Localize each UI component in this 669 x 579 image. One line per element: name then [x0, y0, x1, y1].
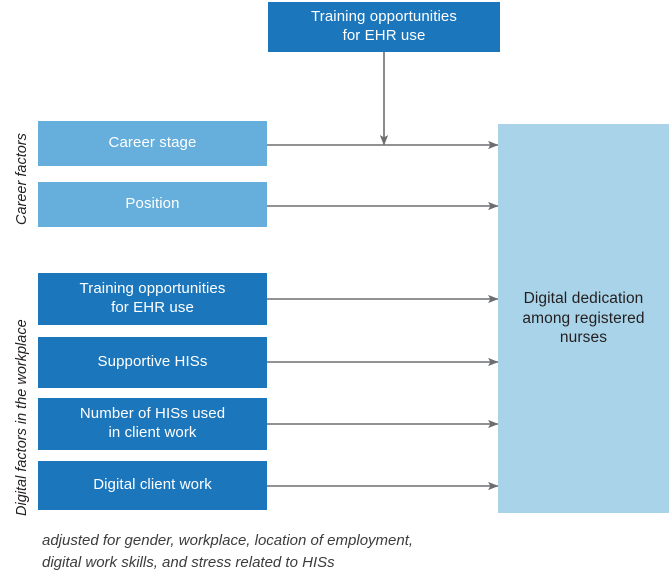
group-label-digital-factors-text: Digital factors in the workplace [14, 319, 30, 516]
box-top-training-opportunities-line1: Training opportunities [311, 8, 457, 25]
box-outcome-line3: nurses [560, 329, 607, 346]
box-supportive-his[interactable]: Supportive HISs [38, 337, 267, 388]
box-top-training-opportunities[interactable]: Training opportunities for EHR use [268, 2, 500, 52]
box-top-training-opportunities-label: Training opportunities for EHR use [311, 8, 457, 46]
group-label-career-factors-text: Career factors [14, 133, 30, 225]
box-number-of-his-used[interactable]: Number of HISs used in client work [38, 398, 267, 450]
box-position[interactable]: Position [38, 182, 267, 227]
group-label-digital-factors: Digital factors in the workplace [14, 319, 30, 516]
footnote-line1: adjusted for gender, workplace, location… [42, 530, 602, 552]
box-number-of-his-used-label: Number of HISs used in client work [80, 405, 225, 443]
box-digital-client-work[interactable]: Digital client work [38, 461, 267, 510]
footnote: adjusted for gender, workplace, location… [42, 530, 602, 574]
box-digital-client-work-label: Digital client work [93, 476, 212, 495]
box-outcome-line1: Digital dedication [524, 290, 644, 307]
box-number-of-his-used-line1: Number of HISs used [80, 405, 225, 422]
box-position-label: Position [125, 195, 179, 214]
footnote-line2: digital work skills, and stress related … [42, 552, 602, 574]
box-top-training-opportunities-line2: for EHR use [343, 27, 426, 44]
group-label-career-factors: Career factors [14, 133, 30, 225]
box-number-of-his-used-line2: in client work [108, 424, 196, 441]
box-training-opportunities-workplace-label: Training opportunities for EHR use [80, 280, 226, 318]
box-training-opportunities-workplace[interactable]: Training opportunities for EHR use [38, 273, 267, 325]
box-supportive-his-label: Supportive HISs [98, 353, 208, 372]
box-training-opportunities-workplace-line1: Training opportunities [80, 280, 226, 297]
box-training-opportunities-workplace-line2: for EHR use [111, 299, 194, 316]
conceptual-model-diagram: Career factors Digital factors in the wo… [0, 0, 669, 579]
box-career-stage[interactable]: Career stage [38, 121, 267, 166]
box-outcome-digital-dedication-label: Digital dedication among registered nurs… [522, 289, 644, 347]
box-outcome-line2: among registered [522, 310, 644, 327]
box-outcome-digital-dedication[interactable]: Digital dedication among registered nurs… [498, 124, 669, 513]
box-career-stage-label: Career stage [109, 134, 197, 153]
